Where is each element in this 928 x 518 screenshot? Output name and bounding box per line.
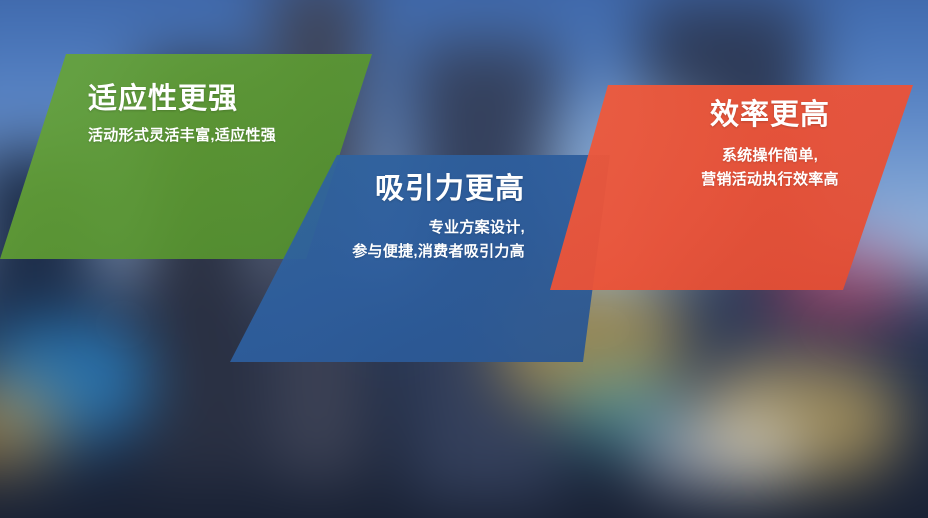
blue-panel-subline-2: 参与便捷,消费者吸引力高 xyxy=(352,240,525,264)
bg-light-white-haze xyxy=(640,410,800,490)
red-panel-heading: 效率更高 xyxy=(670,100,870,132)
blue-panel-subline-1: 专业方案设计, xyxy=(352,216,525,240)
green-panel-heading: 适应性更强 xyxy=(88,84,276,116)
red-panel-subline-2: 营销活动执行效率高 xyxy=(670,168,870,192)
blue-panel-content: 吸引力更高 专业方案设计, 参与便捷,消费者吸引力高 xyxy=(352,174,525,264)
blue-panel-heading: 吸引力更高 xyxy=(352,174,525,206)
green-panel-content: 适应性更强 活动形式灵活丰富,适应性强 xyxy=(88,84,276,148)
red-panel-content: 效率更高 系统操作简单, 营销活动执行效率高 xyxy=(670,100,870,192)
green-panel-subline-1: 活动形式灵活丰富,适应性强 xyxy=(88,124,276,148)
feature-panel-efficiency[interactable]: 效率更高 系统操作简单, 营销活动执行效率高 xyxy=(550,78,928,298)
red-panel-subline-1: 系统操作简单, xyxy=(670,144,870,168)
banner-stage: 适应性更强 活动形式灵活丰富,适应性强 吸引力更高 专业方案设计, 参与便捷,消… xyxy=(0,0,928,518)
